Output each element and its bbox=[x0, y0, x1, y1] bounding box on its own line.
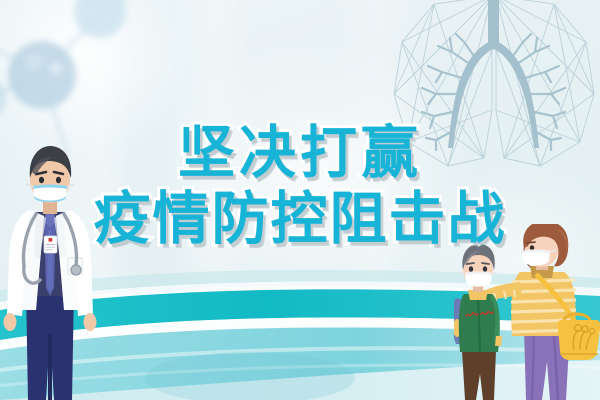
stethoscope-chestpiece bbox=[71, 265, 81, 275]
molecule-node-medium bbox=[74, 0, 126, 38]
boy-pants bbox=[462, 350, 496, 400]
poster-canvas: 坚决打赢 疫情防控阻击战 bbox=[0, 0, 600, 400]
molecule-node-small bbox=[0, 76, 6, 120]
boy-jacket bbox=[459, 290, 502, 352]
boy-figure bbox=[454, 244, 502, 400]
background-glow-center bbox=[150, 30, 480, 330]
boy-head bbox=[459, 244, 497, 287]
mother-head bbox=[522, 224, 568, 268]
doctor-head bbox=[26, 146, 74, 203]
doctor-face-mask bbox=[26, 184, 74, 202]
boy-face-mask bbox=[459, 272, 497, 287]
doctor-figure bbox=[0, 138, 104, 400]
molecule-node-large bbox=[8, 41, 76, 109]
family-figures bbox=[454, 224, 600, 400]
lungs-wireframe-icon bbox=[374, 0, 600, 186]
doctor-id-badge bbox=[44, 236, 57, 253]
